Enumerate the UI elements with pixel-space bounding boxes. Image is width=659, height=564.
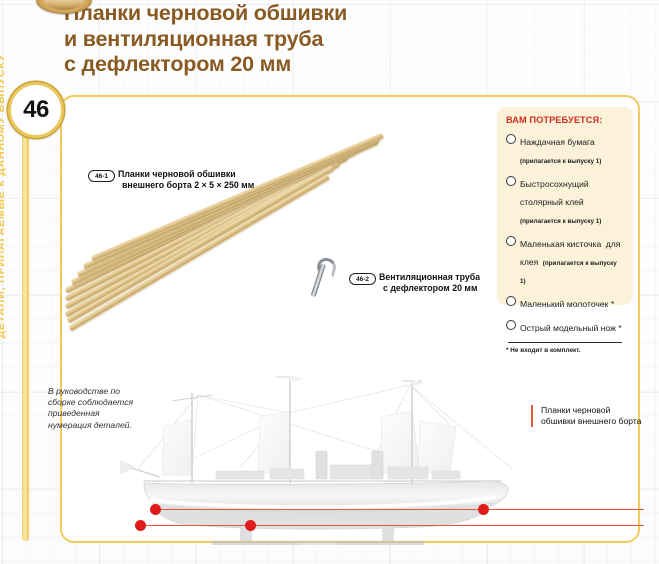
- requirement-item-note: (прилагается к выпуску 1): [520, 158, 601, 165]
- requirements-footnote: * Не входит в комплект.: [506, 347, 624, 354]
- callout-vent-pipe-line-1: Вентиляционная труба: [379, 272, 480, 282]
- callout-planks-line-2: внешнего борта 2 × 5 × 250 мм: [118, 180, 254, 191]
- requirement-item[interactable]: Наждачная бумага (прилагается к выпуску …: [506, 132, 624, 168]
- callout-dot-4: [245, 520, 256, 531]
- callout-planks: 46-1 Планки черновой обшивки внешнего бо…: [88, 169, 254, 191]
- requirement-item-label: Маленький молоточек *: [520, 299, 614, 309]
- page-title-line-3: с дефлектором 20 мм: [64, 52, 534, 78]
- circle-checkbox-icon[interactable]: [506, 296, 516, 306]
- requirement-item-label: Наждачная бумага: [520, 137, 595, 147]
- callout-vent-pipe-text: Вентиляционная труба с дефлектором 20 мм: [379, 272, 480, 294]
- requirement-item[interactable]: Маленький молоточек *: [506, 294, 624, 312]
- callout-vent-pipe-tag: 46-2: [349, 273, 376, 285]
- requirement-item-text: Острый модельный нож *: [520, 318, 624, 336]
- callout-planks-tag: 46-1: [88, 170, 115, 182]
- ship-drawing: [120, 365, 540, 545]
- requirement-item-text: Быстросохнущий столярный клей (прилагает…: [520, 174, 624, 228]
- circle-checkbox-icon[interactable]: [506, 134, 516, 144]
- requirement-item-label: Острый модельный нож *: [520, 323, 622, 333]
- left-vertical-rail: [22, 96, 29, 541]
- requirement-item-note: (прилагается к выпуску 1): [520, 218, 601, 225]
- requirement-item[interactable]: Маленькая кисточка для клея (прилагается…: [506, 234, 624, 288]
- page-title-line-2: и вентиляционная труба: [64, 27, 534, 53]
- requirements-title: ВАМ ПОТРЕБУЕТСЯ:: [506, 115, 624, 125]
- requirements-box: ВАМ ПОТРЕБУЕТСЯ: Наждачная бумага (прила…: [497, 107, 633, 305]
- leader-line-upper: [156, 509, 644, 510]
- callout-dot-1: [150, 504, 161, 515]
- circle-checkbox-icon[interactable]: [506, 176, 516, 186]
- callout-dot-3: [135, 520, 146, 531]
- requirement-item-text: Маленький молоточек *: [520, 294, 624, 312]
- callout-vent-pipe-line-2: с дефлектором 20 мм: [379, 283, 480, 294]
- page-title-line-1: Планки черновой обшивки: [64, 1, 534, 27]
- circle-checkbox-icon[interactable]: [506, 236, 516, 246]
- leader-line-lower: [140, 525, 644, 526]
- callout-planks-text: Планки черновой обшивки внешнего борта 2…: [118, 169, 254, 191]
- callout-planks-line-1: Планки черновой обшивки: [118, 169, 236, 179]
- requirement-item-text: Маленькая кисточка для клея (прилагается…: [520, 234, 624, 288]
- requirement-item[interactable]: Острый модельный нож *: [506, 318, 624, 336]
- callout-dot-2: [478, 504, 489, 515]
- masthead-emblem-inner: [45, 0, 83, 10]
- circle-checkbox-icon[interactable]: [506, 320, 516, 330]
- requirement-item-label: Быстросохнущий: [520, 179, 589, 189]
- ship-annotation: Планки черновой обшивки внешнего борта: [531, 405, 645, 427]
- callout-vent-pipe: 46-2 Вентиляционная труба с дефлектором …: [349, 272, 480, 294]
- ship-annotation-text: Планки черновой обшивки внешнего борта: [541, 405, 645, 427]
- ship-illustration: [120, 365, 540, 545]
- requirement-item-label: Маленькая кисточка: [520, 239, 601, 249]
- page-number-badge: 46: [8, 82, 64, 138]
- requirement-item-text: Наждачная бумага (прилагается к выпуску …: [520, 132, 624, 168]
- numbering-note: В руководстве по сборке соблюдается прив…: [48, 386, 134, 431]
- page-number-value: 46: [23, 98, 49, 122]
- requirements-divider: [508, 342, 622, 343]
- issue-parts-vertical-label: ДЕТАЛИ, ПРИЛАГАЕМЫЕ К ДАННОМУ ВЫПУСКУ: [0, 0, 7, 416]
- requirement-item-label-2: столярный клей: [520, 197, 584, 207]
- requirement-item[interactable]: Быстросохнущий столярный клей (прилагает…: [506, 174, 624, 228]
- page-title: Планки черновой обшивки и вентиляционная…: [64, 1, 534, 78]
